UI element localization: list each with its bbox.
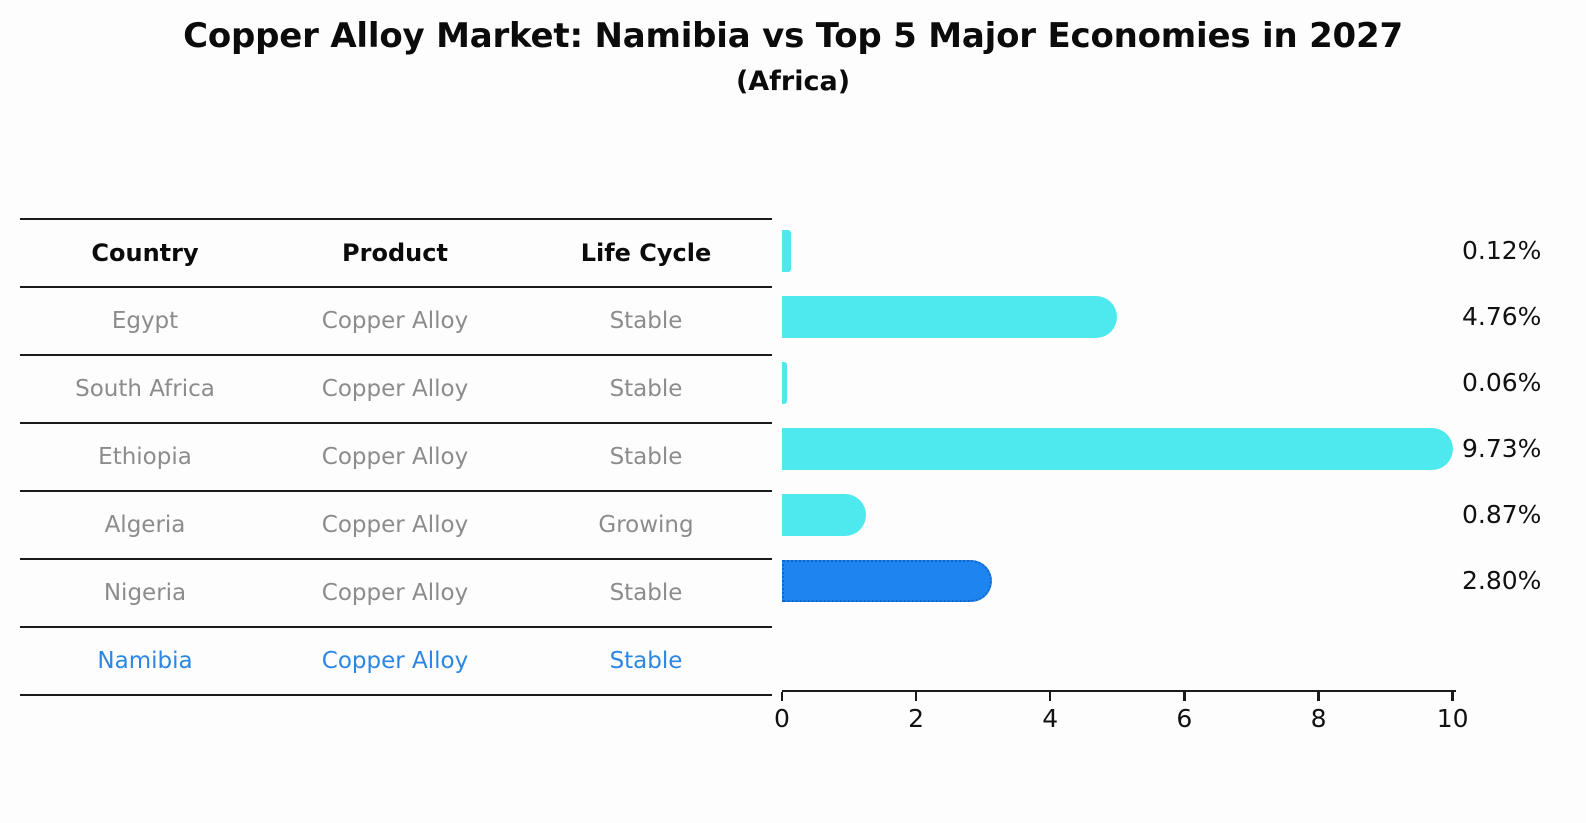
cell-country: Egypt: [20, 287, 270, 355]
cell-country: South Africa: [20, 355, 270, 423]
x-tick-label: 0: [774, 704, 790, 733]
cell-life-cycle: Stable: [520, 287, 772, 355]
value-label: 0.12%: [1462, 218, 1541, 284]
bar-namibia[interactable]: [782, 560, 992, 602]
table-row: NamibiaCopper AlloyStable: [20, 627, 772, 695]
table-row: AlgeriaCopper AlloyGrowing: [20, 491, 772, 559]
x-tick: [781, 692, 783, 701]
table-row: South AfricaCopper AlloyStable: [20, 355, 772, 423]
bar-egypt[interactable]: [782, 230, 791, 272]
cell-product: Copper Alloy: [270, 491, 520, 559]
table-row: NigeriaCopper AlloyStable: [20, 559, 772, 627]
value-label: 2.80%: [1462, 548, 1541, 614]
cell-product: Copper Alloy: [270, 559, 520, 627]
x-axis-line: [782, 690, 1456, 692]
cell-product: Copper Alloy: [270, 423, 520, 491]
x-tick: [1317, 692, 1319, 701]
cell-country: Ethiopia: [20, 423, 270, 491]
x-tick-label: 6: [1176, 704, 1192, 733]
chart-title: Copper Alloy Market: Namibia vs Top 5 Ma…: [0, 14, 1586, 58]
value-labels-column: 0.12%4.76%0.06%9.73%0.87%2.80%: [1462, 218, 1586, 690]
cell-life-cycle: Stable: [520, 355, 772, 423]
bar-row: [782, 416, 1456, 482]
bar-row: [782, 548, 1456, 614]
cell-life-cycle: Stable: [520, 559, 772, 627]
x-tick: [1451, 692, 1453, 701]
x-tick: [1183, 692, 1185, 701]
value-label: 4.76%: [1462, 284, 1541, 350]
value-label: 9.73%: [1462, 416, 1541, 482]
table-body: EgyptCopper AlloyStableSouth AfricaCoppe…: [20, 287, 772, 695]
bar-row: [782, 482, 1456, 548]
bar-algeria[interactable]: [782, 428, 1453, 470]
cell-product: Copper Alloy: [270, 355, 520, 423]
bar-ethiopia[interactable]: [782, 362, 787, 404]
x-tick-label: 8: [1311, 704, 1327, 733]
column-header-life-cycle: Life Cycle: [520, 219, 772, 287]
title-block: Copper Alloy Market: Namibia vs Top 5 Ma…: [0, 14, 1586, 102]
bar-nigeria[interactable]: [782, 494, 866, 536]
cell-life-cycle: Growing: [520, 491, 772, 559]
column-header-product: Product: [270, 219, 520, 287]
cell-product: Copper Alloy: [270, 627, 520, 695]
bar-row: [782, 284, 1456, 350]
bar-south-africa[interactable]: [782, 296, 1117, 338]
country-table: Country Product Life Cycle EgyptCopper A…: [20, 218, 772, 696]
x-tick: [1049, 692, 1051, 701]
value-label: 0.87%: [1462, 482, 1541, 548]
x-tick-label: 4: [1042, 704, 1058, 733]
x-tick: [915, 692, 917, 701]
table-row: EthiopiaCopper AlloyStable: [20, 423, 772, 491]
column-header-country: Country: [20, 219, 270, 287]
value-label: 0.06%: [1462, 350, 1541, 416]
table-header-row: Country Product Life Cycle: [20, 219, 772, 287]
x-tick-label: 10: [1437, 704, 1469, 733]
chart-subtitle: (Africa): [0, 62, 1586, 102]
cell-product: Copper Alloy: [270, 287, 520, 355]
x-tick-label: 2: [908, 704, 924, 733]
bar-chart-plot-area: 0246810: [782, 218, 1456, 690]
cell-life-cycle: Stable: [520, 423, 772, 491]
country-table-panel: Country Product Life Cycle EgyptCopper A…: [20, 218, 772, 696]
cell-country: Namibia: [20, 627, 270, 695]
table-row: EgyptCopper AlloyStable: [20, 287, 772, 355]
bar-row: [782, 350, 1456, 416]
cell-life-cycle: Stable: [520, 627, 772, 695]
cell-country: Nigeria: [20, 559, 270, 627]
bar-row: [782, 218, 1456, 284]
cell-country: Algeria: [20, 491, 270, 559]
